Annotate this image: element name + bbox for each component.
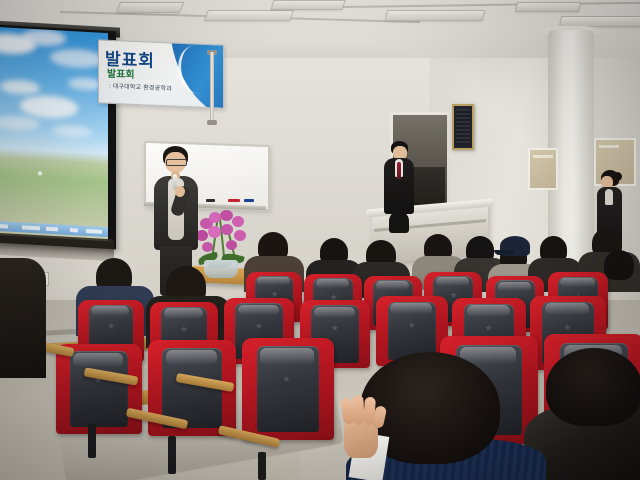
wall-mounted-pole — [210, 52, 214, 124]
auditorium-seat[interactable]: ★ — [56, 344, 142, 434]
seat-leg — [88, 424, 96, 458]
auditorium-photo: 발표회 발표회 : 대구대학교 환경공학과 — [0, 0, 640, 480]
whiteboard-marker[interactable] — [228, 199, 240, 202]
seat-emblem: ★ — [107, 322, 122, 334]
seat-emblem: ★ — [255, 322, 270, 335]
necktie — [397, 162, 401, 179]
wall-speaker-icon — [452, 104, 474, 150]
pole-cap-bottom — [207, 120, 217, 125]
audience-head — [604, 250, 634, 280]
seat-emblem: ★ — [408, 321, 424, 335]
glasses-icon — [166, 159, 187, 166]
cap-brim — [494, 250, 514, 255]
seat-emblem: ★ — [180, 325, 195, 338]
seat-emblem: ★ — [282, 375, 302, 395]
orchid-pot — [204, 260, 238, 278]
whiteboard-marker[interactable] — [244, 199, 254, 202]
banner-organization: : 대구대학교 환경공학과 — [109, 81, 172, 93]
notice-board — [528, 148, 558, 190]
projection-screen[interactable] — [0, 27, 108, 241]
banner-subheadline: 발표회 — [107, 65, 135, 81]
seat-leg — [168, 436, 176, 474]
foreground-person-left — [0, 258, 56, 378]
ceiling-light — [385, 10, 486, 21]
seat-leg — [258, 452, 266, 480]
seat-emblem: ★ — [331, 324, 346, 338]
hand-holding-paper — [338, 398, 388, 460]
ceiling-light — [204, 10, 294, 21]
auditorium-seat[interactable]: ★ — [242, 338, 334, 440]
event-banner: 발표회 발표회 : 대구대학교 환경공학과 — [98, 39, 224, 108]
ceiling-light — [116, 2, 184, 13]
screen-cursor — [38, 171, 42, 175]
man-in-suit — [382, 141, 416, 231]
ceiling-light — [515, 2, 581, 12]
whiteboard-eraser[interactable] — [206, 199, 215, 202]
ceiling-light — [270, 0, 345, 10]
